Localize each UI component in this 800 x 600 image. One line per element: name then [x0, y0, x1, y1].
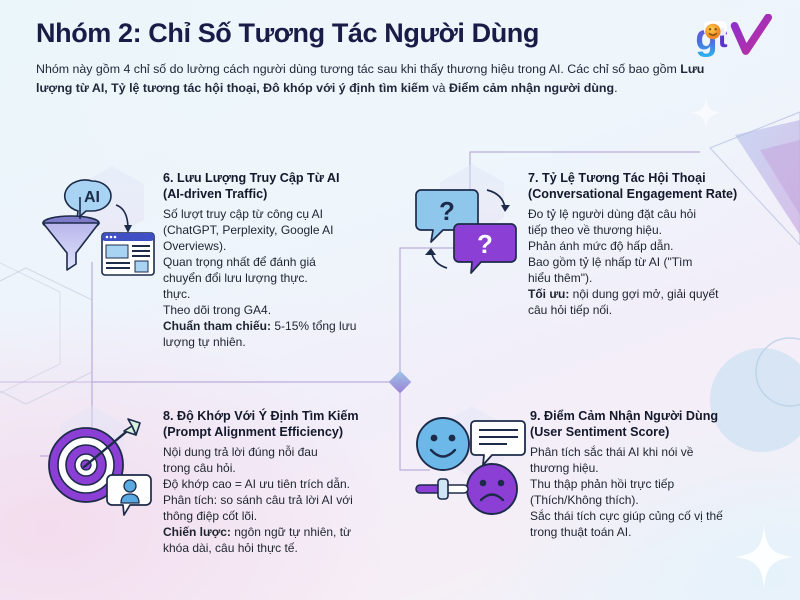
- heading-line-2: (Prompt Alignment Efficiency): [163, 425, 343, 439]
- page-title: Nhóm 2: Chỉ Số Tương Tác Người Dùng: [36, 18, 766, 49]
- line: Theo dõi trong GA4.: [163, 303, 271, 317]
- metric-card-6-heading: 6. Lưu Lượng Truy Cập Từ AI (AI-driven T…: [163, 170, 398, 202]
- metric-card-6-text: Số lượt truy cập từ công cụ AI (ChatGPT,…: [163, 207, 398, 351]
- heading-line-1: 9. Điểm Cảm Nhận Người Dùng: [530, 409, 718, 423]
- svg-text:?: ?: [477, 229, 493, 259]
- heading-line-2: (User Sentiment Score): [530, 425, 669, 439]
- line: thương hiệu.: [530, 461, 599, 475]
- line: ngôn ngữ tự nhiên, từ: [231, 525, 351, 539]
- line-bold: Chiến lược:: [163, 525, 231, 539]
- header: Nhóm 2: Chỉ Số Tương Tác Người Dùng Nhóm…: [36, 18, 766, 98]
- metric-card-8-text: Nội dung trả lời đúng nỗi đau trong câu …: [163, 445, 398, 557]
- metric-card-9-body: 9. Điểm Cảm Nhận Người Dùng (User Sentim…: [530, 408, 785, 541]
- line: câu hỏi tiếp nối.: [528, 303, 612, 317]
- line: Phân tích sắc thái AI khi nói về: [530, 445, 693, 459]
- line: Phản ánh mức độ hấp dẫn.: [528, 239, 673, 253]
- heading-line-1: 8. Độ Khớp Với Ý Định Tìm Kiếm: [163, 409, 359, 423]
- line: Nội dung trả lời đúng nỗi đau: [163, 445, 318, 459]
- sparkle-icon-small: [690, 96, 722, 130]
- line: hiểu thêm").: [528, 271, 592, 285]
- heading-line-1: 7. Tỷ Lệ Tương Tác Hội Thoại: [528, 171, 706, 185]
- line: khóa dài, câu hỏi thực tế.: [163, 541, 298, 555]
- heading-line-2: (AI-driven Traffic): [163, 187, 267, 201]
- line: nội dung gợi mở, giải quyết: [569, 287, 718, 301]
- sentiment-faces-icon: [412, 413, 527, 518]
- subtitle-text-1: Nhóm này gồm 4 chỉ số do lường cách ngườ…: [36, 62, 680, 76]
- target-arrow-user-icon: [40, 413, 158, 518]
- metric-card-7-body: 7. Tỷ Lệ Tương Tác Hội Thoại (Conversati…: [528, 170, 783, 319]
- heading-line-1: 6. Lưu Lượng Truy Cập Từ AI: [163, 171, 339, 185]
- line-bold: Chuẩn tham chiếu:: [163, 319, 271, 333]
- line: Thu thập phản hồi trực tiếp: [530, 477, 674, 491]
- line: 5-15% tổng lưu: [271, 319, 356, 333]
- line: Đo tỷ lệ người dùng đặt câu hỏi: [528, 207, 696, 221]
- line: (ChatGPT, Perplexity, Google AI: [163, 223, 334, 237]
- line: Độ khớp cao = AI ưu tiên trích dẫn.: [163, 477, 350, 491]
- metric-card-7-heading: 7. Tỷ Lệ Tương Tác Hội Thoại (Conversati…: [528, 170, 783, 202]
- funnel-ai-traffic-svg: AI: [40, 175, 158, 280]
- subtitle-text-end: .: [614, 81, 617, 95]
- junction-node: [389, 371, 412, 394]
- metric-card-7-text: Đo tỷ lệ người dùng đặt câu hỏi tiếp the…: [528, 207, 783, 319]
- line: Bao gồm tỷ lệ nhấp từ AI ("Tìm: [528, 255, 692, 269]
- line: lượng tự nhiên.: [163, 335, 246, 349]
- metric-card-9-text: Phân tích sắc thái AI khi nói về thương …: [530, 445, 785, 541]
- line: Phân tích: so sánh câu trả lời AI với: [163, 493, 353, 507]
- heading-line-2: (Conversational Engagement Rate): [528, 187, 737, 201]
- line: Overviews).: [163, 239, 226, 253]
- line: trong câu hỏi.: [163, 461, 236, 475]
- sentiment-faces-svg: [412, 413, 527, 518]
- gtv-logo-icon: g t: [694, 14, 778, 60]
- svg-text:?: ?: [439, 196, 455, 226]
- line: (Thích/Không thích).: [530, 493, 639, 507]
- metric-card-9-heading: 9. Điểm Cảm Nhận Người Dùng (User Sentim…: [530, 408, 785, 440]
- svg-text:AI: AI: [84, 189, 100, 206]
- gtv-logo: g t: [694, 14, 778, 60]
- line: tiếp theo về thương hiệu.: [528, 223, 662, 237]
- line: trong thuật toán AI.: [530, 525, 631, 539]
- metric-card-8-body: 8. Độ Khớp Với Ý Định Tìm Kiếm (Prompt A…: [163, 408, 398, 557]
- metric-card-8-heading: 8. Độ Khớp Với Ý Định Tìm Kiếm (Prompt A…: [163, 408, 398, 440]
- target-arrow-user-svg: [40, 413, 158, 518]
- question-chat-bubbles-icon: ? ?: [415, 180, 520, 280]
- line: thực.: [163, 287, 190, 301]
- metric-card-6-body: 6. Lưu Lượng Truy Cập Từ AI (AI-driven T…: [163, 170, 398, 351]
- subtitle-bold-2: Điểm cảm nhận người dùng: [449, 81, 614, 95]
- funnel-ai-traffic-icon: AI: [40, 175, 158, 280]
- hexagon-outline-left-2: [0, 260, 60, 396]
- line: Sắc thái tích cực giúp củng cố vị thế: [530, 509, 723, 523]
- line: thông điệp cốt lõi.: [163, 509, 257, 523]
- circle-ring-decor: [756, 338, 800, 406]
- line: chuyển đổi lưu lượng thực.: [163, 271, 308, 285]
- page-subtitle: Nhóm này gồm 4 chỉ số do lường cách ngườ…: [36, 60, 736, 98]
- line: Số lượt truy cập từ công cụ AI: [163, 207, 323, 221]
- line: Quan trọng nhất để đánh giá: [163, 255, 316, 269]
- line-bold: Tối ưu:: [528, 287, 569, 301]
- hexagon-outline-left: [0, 268, 92, 404]
- subtitle-text-mid: và: [429, 81, 449, 95]
- question-chat-bubbles-svg: ? ?: [415, 180, 520, 280]
